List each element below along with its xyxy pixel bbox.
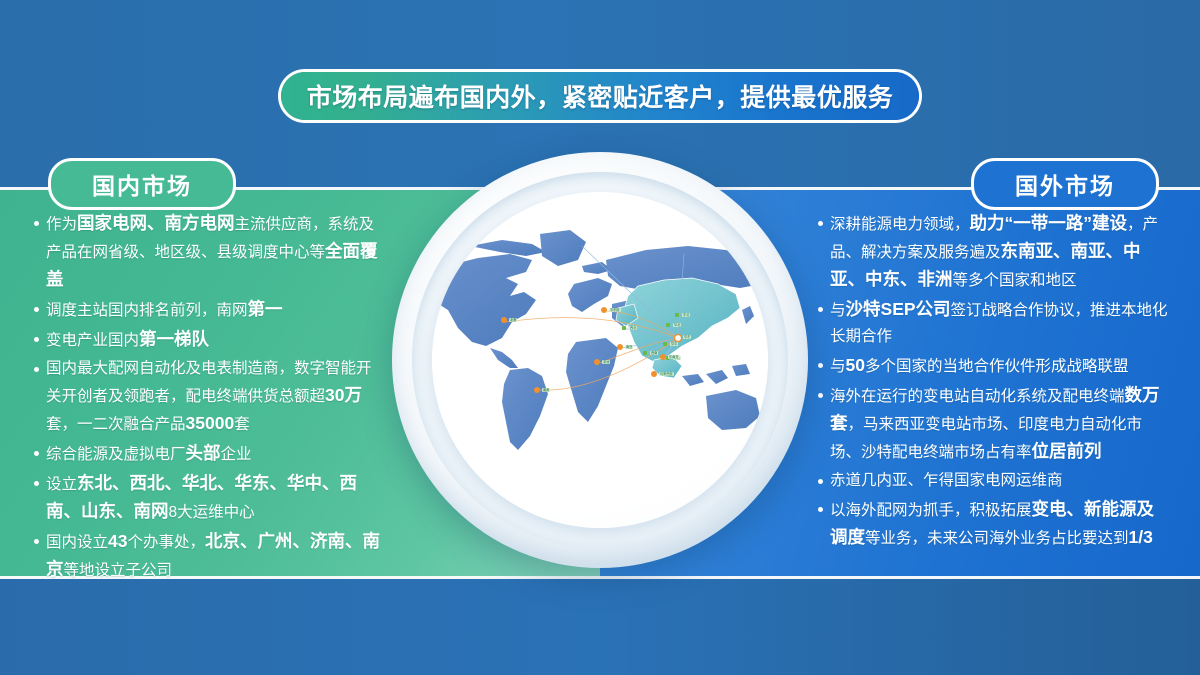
plain-text: 赤道几内亚、乍得国家电网运维商	[830, 472, 1063, 489]
overseas-market-header-label: 国外市场	[1015, 167, 1115, 201]
plain-text: 企业	[221, 446, 252, 463]
list-item-text: 与50多个国家的当地合作伙件形成战略联盟	[830, 352, 1129, 380]
emphasis-text: 30万	[325, 385, 362, 405]
bullet-dot-icon	[34, 367, 39, 372]
plain-text: 多个国家的当地合作伙件形成战略联盟	[865, 358, 1129, 375]
list-item-text: 深耕能源电力领域，助力“一带一路”建设，产品、解决方案及服务遍及东南亚、南亚、中…	[830, 210, 1170, 294]
bullet-dot-icon	[34, 337, 39, 342]
plain-text: 套，一二次融合产品	[46, 416, 186, 433]
map-node-label: 华东	[683, 335, 691, 339]
list-item-text: 调度主站国内排名前列，南网第一	[46, 296, 283, 324]
list-item-text: 综合能源及虚拟电厂头部企业	[46, 440, 252, 468]
plain-text: 等多个国家和地区	[953, 272, 1077, 289]
map-node-label: 华北	[673, 323, 681, 327]
plain-text: 变电产业国内	[46, 332, 139, 349]
list-item: 以海外配网为抓手，积极拓展变电、新能源及调度等业务，未来公司海外业务占比要达到1…	[818, 496, 1170, 552]
emphasis-text: 1/3	[1129, 527, 1153, 547]
map-node-label: 中东欧	[609, 308, 621, 312]
list-item: 国内最大配网自动化及电表制造商，数字智能开关开创者及领跑者，配电终端供货总额超3…	[34, 356, 384, 438]
list-item: 深耕能源电力领域，助力“一带一路”建设，产品、解决方案及服务遍及东南亚、南亚、中…	[818, 210, 1170, 294]
map-node-label: 非洲	[602, 360, 610, 364]
bullet-dot-icon	[34, 221, 39, 226]
list-item-text: 与沙特SEP公司签订战略合作协议，推进本地化长期合作	[830, 296, 1170, 350]
plain-text: 深耕能源电力领域，	[830, 216, 970, 233]
list-item: 与50多个国家的当地合作伙件形成战略联盟	[818, 352, 1170, 380]
plain-text: 调度主站国内排名前列，南网	[46, 302, 248, 319]
bullet-dot-icon	[34, 481, 39, 486]
page-title: 市场布局遍布国内外，紧密贴近客户，提供最优服务	[307, 78, 894, 114]
plain-text: 作为	[46, 216, 77, 233]
emphasis-text: 35000	[186, 413, 235, 433]
plain-text: 综合能源及虚拟电厂	[46, 446, 186, 463]
list-item: 综合能源及虚拟电厂头部企业	[34, 440, 384, 468]
list-item-text: 作为国家电网、南方电网主流供应商，系统及产品在网省级、地区级、县级调度中心等全面…	[46, 210, 384, 294]
plain-text: 与	[830, 358, 846, 375]
emphasis-text: 第一梯队	[139, 329, 209, 349]
list-item: 与沙特SEP公司签订战略合作协议，推进本地化长期合作	[818, 296, 1170, 350]
plain-text: 等地设立子公司	[64, 562, 173, 579]
list-item: 变电产业国内第一梯队	[34, 326, 384, 354]
hub-marker	[674, 334, 681, 341]
bullet-dot-icon	[34, 539, 39, 544]
plain-text: 与	[830, 302, 846, 319]
plain-text: 设立	[46, 476, 77, 493]
globe-graphic: 东北华北西北华东华中西南华南北美南美中东欧非洲南亚东南亚马来西亚	[380, 140, 820, 580]
emphasis-text: 第一	[248, 299, 283, 319]
list-item: 国内设立43个办事处，北京、广州、济南、南京等地设立子公司	[34, 528, 384, 584]
map-node-label: 马来西亚	[659, 372, 674, 376]
emphasis-text: 助力“一带一路”建设	[970, 213, 1128, 233]
list-item-text: 设立东北、西北、华北、华东、华中、西南、山东、南网8大运维中心	[46, 470, 384, 526]
map-node-label: 西南	[650, 351, 658, 355]
list-item-text: 海外在运行的变电站自动化系统及配电终端数万套，马来西亚变电站市场、印度电力自动化…	[830, 382, 1170, 466]
map-node-label: 东北	[682, 313, 690, 317]
domestic-market-header-label: 国内市场	[92, 167, 192, 201]
emphasis-text: 头部	[186, 443, 221, 463]
map-node-label: 华中	[670, 342, 678, 346]
plain-text: 等业务，未来公司海外业务占比要达到	[865, 530, 1129, 547]
plain-text: 国内最大配网自动化及电表制造商，数字智能开关开创者及领跑者，配电终端供货总额超	[46, 360, 372, 405]
emphasis-text: 沙特SEP公司	[846, 299, 951, 319]
list-item-text: 变电产业国内第一梯队	[46, 326, 209, 354]
plain-text: 海外在运行的变电站自动化系统及配电终端	[830, 388, 1125, 405]
overseas-market-header: 国外市场	[971, 158, 1159, 210]
bullet-dot-icon	[34, 451, 39, 456]
list-item: 设立东北、西北、华北、华东、华中、西南、山东、南网8大运维中心	[34, 470, 384, 526]
overseas-bullet-list: 深耕能源电力领域，助力“一带一路”建设，产品、解决方案及服务遍及东南亚、南亚、中…	[818, 210, 1170, 554]
domestic-bullet-list: 作为国家电网、南方电网主流供应商，系统及产品在网省级、地区级、县级调度中心等全面…	[34, 210, 384, 586]
list-item-text: 国内设立43个办事处，北京、广州、济南、南京等地设立子公司	[46, 528, 384, 584]
map-node-label: 北美	[509, 318, 517, 322]
list-item: 作为国家电网、南方电网主流供应商，系统及产品在网省级、地区级、县级调度中心等全面…	[34, 210, 384, 294]
map-node-label: 东南亚	[668, 355, 680, 359]
plain-text: 套	[234, 416, 250, 433]
domestic-market-header: 国内市场	[48, 158, 236, 210]
list-item-text: 国内最大配网自动化及电表制造商，数字智能开关开创者及领跑者，配电终端供货总额超3…	[46, 356, 384, 438]
map-node-label: 南亚	[625, 345, 633, 349]
plain-text: 个办事处，	[127, 534, 205, 551]
list-item-text: 以海外配网为抓手，积极拓展变电、新能源及调度等业务，未来公司海外业务占比要达到1…	[830, 496, 1170, 552]
plain-text: 国内设立	[46, 534, 108, 551]
plain-text: 以海外配网为抓手，积极拓展	[830, 502, 1032, 519]
emphasis-text: 国家电网、南方电网	[77, 213, 235, 233]
plain-text: 8大运维中心	[169, 504, 255, 521]
list-item: 调度主站国内排名前列，南网第一	[34, 296, 384, 324]
map-node-label: 南美	[542, 388, 550, 392]
route-network-overlay	[432, 192, 768, 528]
slide-canvas: 市场布局遍布国内外，紧密贴近客户，提供最优服务	[0, 0, 1200, 675]
emphasis-text: 50	[846, 355, 865, 375]
list-item-text: 赤道几内亚、乍得国家电网运维商	[830, 468, 1063, 494]
map-node-label: 西北	[629, 326, 637, 330]
emphasis-text: 43	[108, 531, 127, 551]
bullet-dot-icon	[34, 307, 39, 312]
list-item: 赤道几内亚、乍得国家电网运维商	[818, 468, 1170, 494]
emphasis-text: 位居前列	[1032, 441, 1102, 461]
globe-disc: 东北华北西北华东华中西南华南北美南美中东欧非洲南亚东南亚马来西亚	[432, 192, 768, 528]
background-bottom-band	[0, 578, 1200, 675]
slide-title-pill: 市场布局遍布国内外，紧密贴近客户，提供最优服务	[281, 72, 919, 120]
list-item: 海外在运行的变电站自动化系统及配电终端数万套，马来西亚变电站市场、印度电力自动化…	[818, 382, 1170, 466]
